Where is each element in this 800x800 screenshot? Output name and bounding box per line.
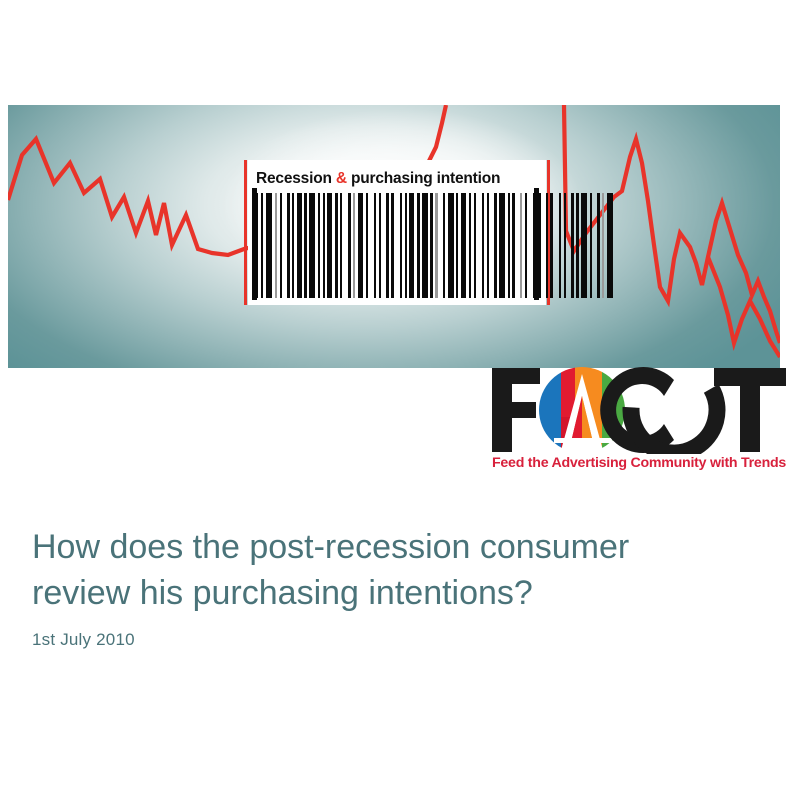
logo-letter-f xyxy=(492,368,540,452)
barcode-graphic: Recession & purchasing intention xyxy=(238,160,556,305)
barcode-title-ampersand: & xyxy=(336,170,347,187)
page-date: 1st July 2010 xyxy=(32,630,135,650)
page-title-line-2: review his purchasing intentions? xyxy=(32,570,762,616)
fact-wordmark xyxy=(488,366,792,454)
barcode-left-red-rule xyxy=(244,160,247,305)
barcode-title-text: Recession & purchasing intention xyxy=(256,166,538,192)
page-title: How does the post-recession consumer rev… xyxy=(32,524,762,616)
barcode-bar xyxy=(607,193,613,298)
fact-logo: Feed the Advertising Community with Tren… xyxy=(488,366,792,478)
barcode-title-suffix: purchasing intention xyxy=(347,170,500,187)
fact-tagline: Feed the Advertising Community with Tren… xyxy=(492,455,792,471)
logo-letter-a-base-gap xyxy=(554,438,612,443)
barcode-title-prefix: Recession xyxy=(256,170,336,187)
hero-banner-image: Recession & purchasing intention xyxy=(8,105,780,368)
page-title-line-1: How does the post-recession consumer xyxy=(32,524,762,570)
barcode-bars xyxy=(253,193,543,298)
